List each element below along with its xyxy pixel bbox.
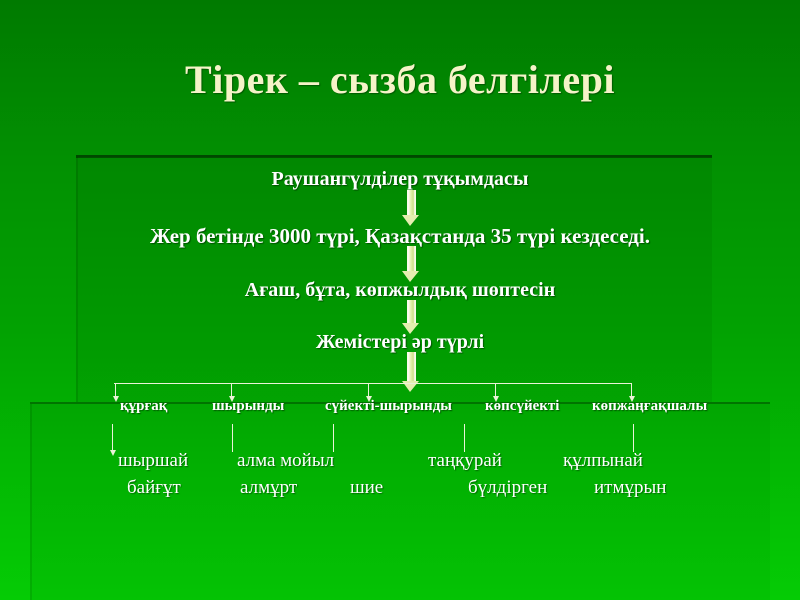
slide-canvas: Тірек – сызба белгілері Раушангүлділер т… (0, 0, 800, 600)
statement-line-4: Жемістері әр түрлі (0, 331, 800, 354)
example-branch-arrowhead-1 (110, 450, 116, 456)
down-arrow-icon-3 (402, 300, 419, 334)
example-word-b-3: шие (350, 477, 383, 499)
example-word-b-5: итмұрын (594, 477, 666, 499)
example-branch-line-5 (633, 424, 634, 452)
statement-line-1: Раушангүлділер тұқымдасы (0, 168, 800, 191)
example-word-b-1: байғұт (127, 477, 181, 499)
upper-panel-top-border (76, 155, 712, 158)
arrow-shaft (407, 246, 416, 272)
down-arrow-icon-1 (402, 190, 419, 226)
tree-branch-line-1 (115, 383, 116, 397)
tree-horizontal-connector (114, 383, 632, 384)
tree-branch-arrowhead-1 (113, 396, 119, 402)
example-branch-line-4 (464, 424, 465, 452)
category-label-multistone: көпсүйекті (485, 398, 559, 415)
tree-branch-line-4 (495, 383, 496, 397)
statement-line-3: Ағаш, бұта, көпжылдық шөптесін (0, 279, 800, 302)
tree-branch-line-5 (631, 383, 632, 397)
category-label-juicy: шырынды (212, 398, 284, 415)
example-word-b-2: алмұрт (240, 477, 297, 499)
down-arrow-icon-4 (402, 352, 419, 392)
down-arrow-icon-2 (402, 246, 419, 282)
category-label-multinut: көпжаңғақшалы (592, 398, 707, 415)
tree-branch-line-2 (231, 383, 232, 397)
example-word-b-4: бүлдірген (468, 477, 547, 499)
statement-line-2: Жер бетінде 3000 түрі, Қазақстанда 35 тү… (0, 224, 800, 249)
example-word-a-4: құлпынай (563, 450, 643, 472)
example-word-a-2: алма мойыл (237, 450, 334, 472)
lower-content-panel (30, 402, 770, 600)
tree-branch-line-3 (368, 383, 369, 397)
category-label-stone-juicy: сүйекті-шырынды (325, 398, 452, 415)
category-label-dry: құрғақ (120, 398, 167, 415)
arrow-shaft (407, 300, 416, 324)
example-word-a-1: шыршай (118, 450, 188, 472)
arrow-shaft (407, 190, 416, 216)
example-branch-line-2 (232, 424, 233, 452)
example-branch-line-1 (112, 424, 113, 452)
arrow-shaft (407, 352, 416, 382)
example-branch-line-3 (333, 424, 334, 452)
example-word-a-3: таңқурай (428, 450, 502, 472)
slide-title: Тірек – сызба белгілері (0, 56, 800, 103)
